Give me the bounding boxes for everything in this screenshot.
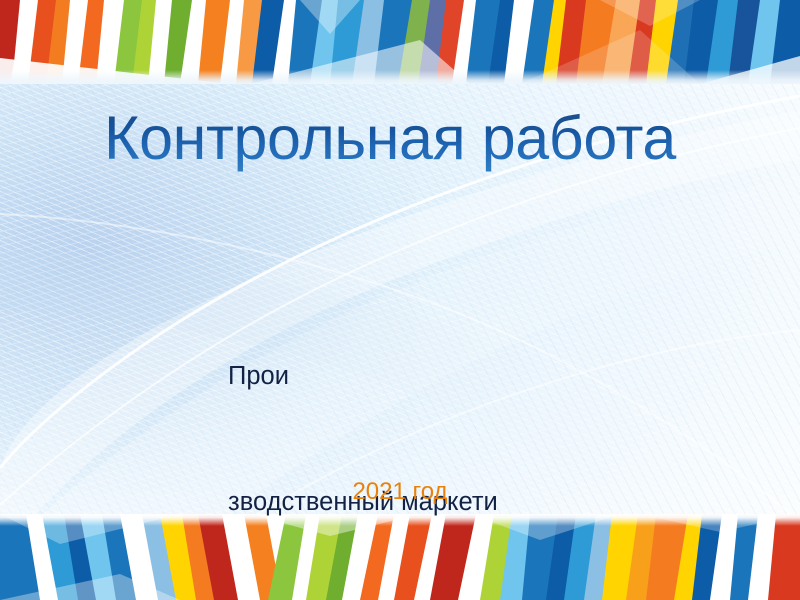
subtitle-line: Прои	[228, 355, 568, 397]
top-decorative-band	[0, 0, 800, 84]
title-slide: Контрольная работа Прои зводственный мар…	[0, 0, 800, 600]
slide-title: Контрольная работа	[104, 106, 724, 172]
top-band-fade	[0, 70, 800, 84]
slide-subtitle: Прои зводственный маркети нг и менеджмен…	[228, 271, 568, 600]
slide-year: 2021 год	[0, 477, 800, 507]
